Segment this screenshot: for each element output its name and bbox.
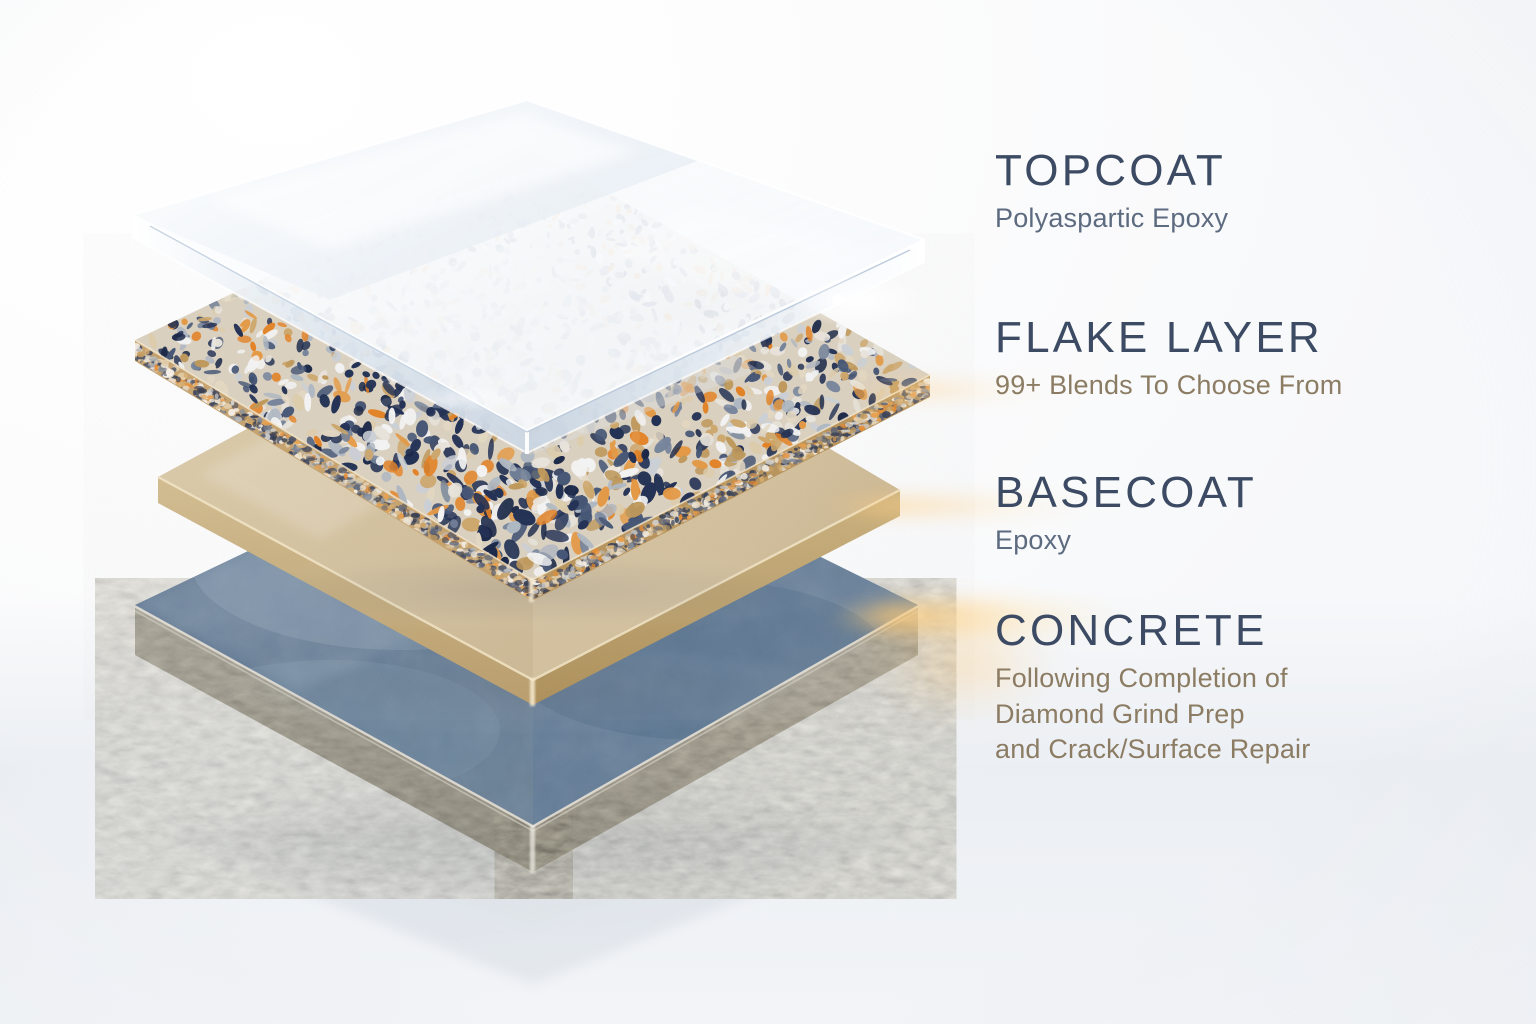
label-topcoat: TOPCOAT Polyaspartic Epoxy (995, 148, 1228, 237)
label-concrete: CONCRETE Following Completion of Diamond… (995, 608, 1310, 768)
diagram-canvas: TOPCOAT Polyaspartic Epoxy FLAKE LAYER 9… (0, 0, 1536, 1024)
label-flake-layer-subtitle: 99+ Blends To Choose From (995, 368, 1342, 404)
label-column: TOPCOAT Polyaspartic Epoxy FLAKE LAYER 9… (995, 0, 1515, 1024)
label-flake-layer: FLAKE LAYER 99+ Blends To Choose From (995, 315, 1342, 404)
label-basecoat-title: BASECOAT (995, 470, 1257, 516)
label-basecoat: BASECOAT Epoxy (995, 470, 1257, 559)
label-basecoat-subtitle: Epoxy (995, 523, 1257, 559)
label-topcoat-subtitle: Polyaspartic Epoxy (995, 201, 1228, 237)
label-concrete-title: CONCRETE (995, 608, 1310, 654)
label-flake-layer-title: FLAKE LAYER (995, 315, 1342, 361)
label-topcoat-title: TOPCOAT (995, 148, 1228, 194)
label-concrete-subtitle: Following Completion of Diamond Grind Pr… (995, 661, 1310, 768)
